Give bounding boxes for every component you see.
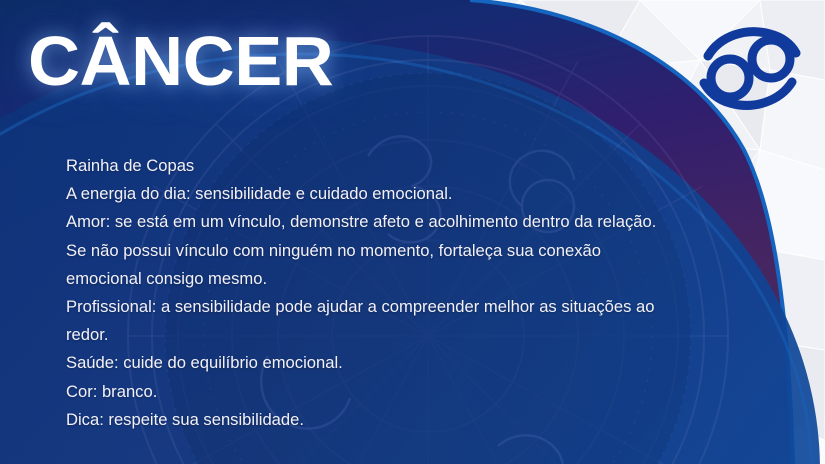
horoscope-line: Se não possui vínculo com ninguém no mom…: [66, 237, 766, 265]
cancer-zodiac-icon: [698, 22, 802, 114]
horoscope-card: CÂNCER Rainha de Copas A energia do dia:…: [0, 0, 825, 464]
horoscope-text: Rainha de Copas A energia do dia: sensib…: [66, 152, 766, 434]
horoscope-line: emocional consigo mesmo.: [66, 265, 766, 293]
horoscope-line: redor.: [66, 321, 766, 349]
horoscope-line: Amor: se está em um vínculo, demonstre a…: [66, 208, 766, 236]
horoscope-line: Profissional: a sensibilidade pode ajuda…: [66, 293, 766, 321]
horoscope-line: Saúde: cuide do equilíbrio emocional.: [66, 349, 766, 377]
horoscope-line: Cor: branco.: [66, 378, 766, 406]
horoscope-line: Dica: respeite sua sensibilidade.: [66, 406, 766, 434]
horoscope-line: Rainha de Copas: [66, 152, 766, 180]
page-title: CÂNCER: [28, 26, 333, 96]
horoscope-line: A energia do dia: sensibilidade e cuidad…: [66, 180, 766, 208]
